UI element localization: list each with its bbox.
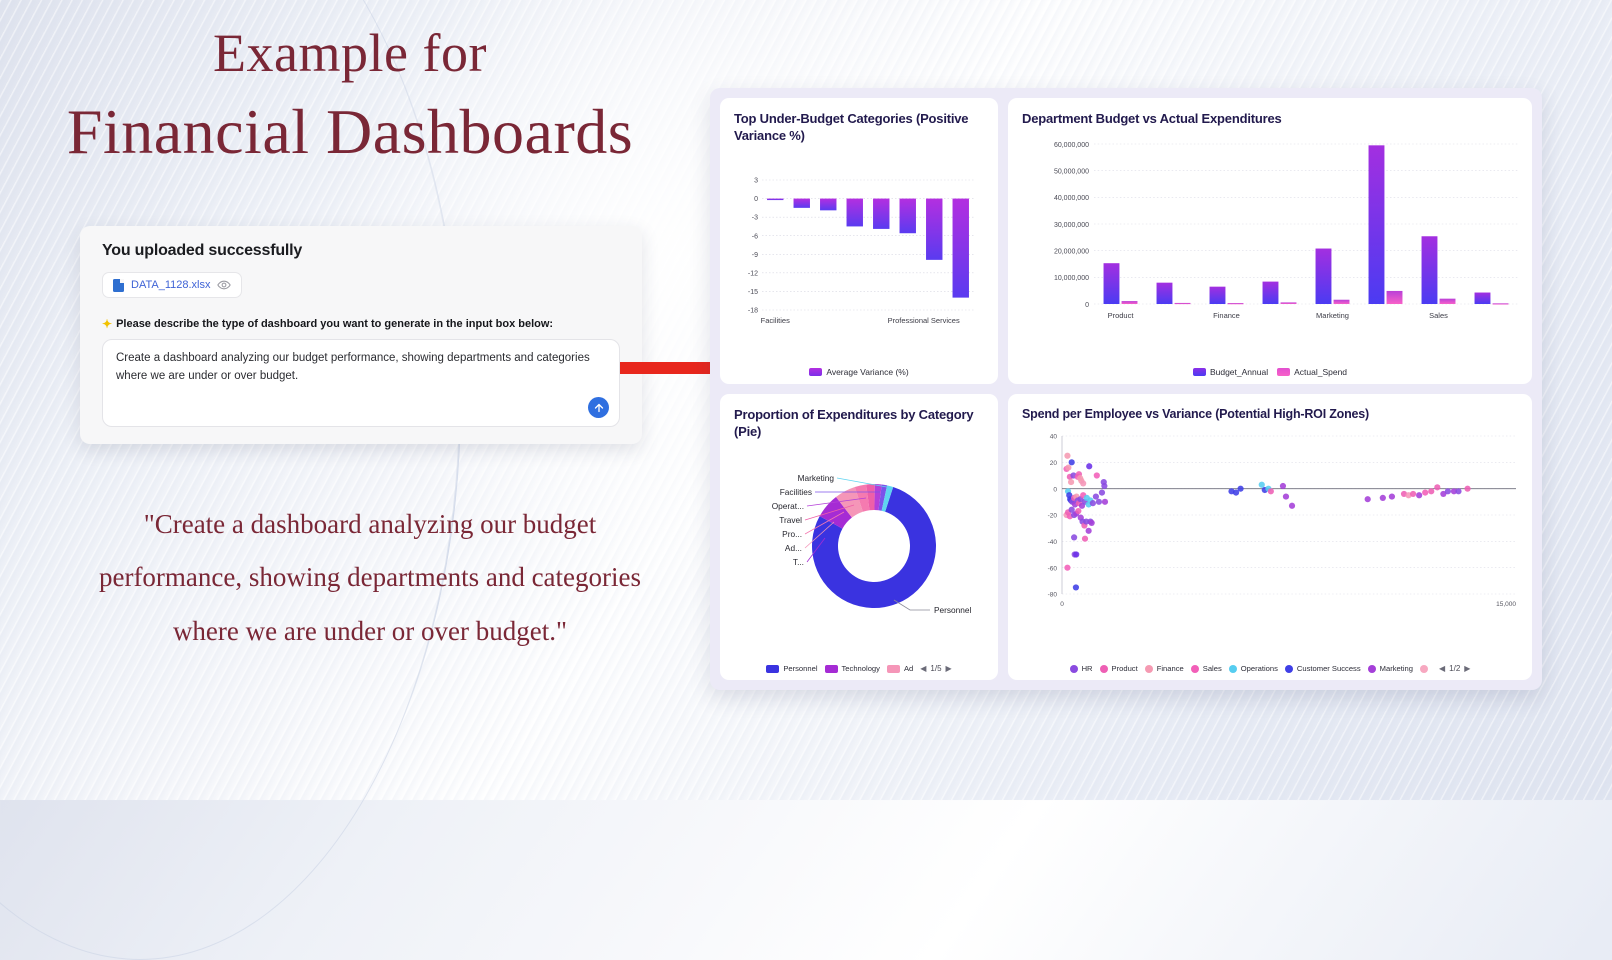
legend-dot [1420,665,1428,673]
legend-swatch [887,665,900,673]
dashboard-prompt-input[interactable]: Create a dashboard analyzing our budget … [102,339,620,427]
chevron-right-icon[interactable]: ▶ [1464,664,1470,673]
legend-label: Average Variance (%) [826,367,908,377]
legend-swatch [825,665,838,673]
legend-dot [1191,665,1199,673]
svg-text:3: 3 [754,178,758,185]
uploaded-file-chip[interactable]: DATA_1128.xlsx [102,272,242,298]
legend-item-extra-7[interactable] [1420,665,1432,673]
svg-text:50,000,000: 50,000,000 [1054,168,1089,175]
svg-text:Product: Product [1108,311,1135,320]
legend-item-customer-success[interactable]: Customer Success [1285,664,1361,673]
xls-file-icon [113,279,124,292]
chart-title-department-budget: Department Budget vs Actual Expenditures [1022,110,1518,127]
svg-text:30,000,000: 30,000,000 [1054,222,1089,229]
svg-text:40: 40 [1050,434,1058,441]
svg-text:T...: T... [793,557,804,567]
chart-card-under-budget: Top Under-Budget Categories (Positive Va… [720,98,998,384]
sparkle-icon: ✦ [102,318,112,330]
legend-item-budget-annual[interactable]: Budget_Annual [1193,367,1268,377]
svg-text:-9: -9 [752,252,758,259]
svg-text:Personnel: Personnel [934,605,972,615]
dashboard-panel: Top Under-Budget Categories (Positive Va… [710,88,1542,690]
legend-under-budget[interactable]: Average Variance (%) [720,367,998,377]
svg-text:20: 20 [1050,460,1058,467]
legend-item-technology[interactable]: Technology [825,664,880,673]
legend-item-actual-spend[interactable]: Actual_Spend [1277,367,1347,377]
svg-text:Operat...: Operat... [772,501,804,511]
legend-swatch [809,368,822,376]
legend-label: Actual_Spend [1294,367,1347,377]
legend-label: Budget_Annual [1210,367,1268,377]
svg-text:Travel: Travel [779,515,802,525]
legend-swatch [1277,368,1290,376]
svg-text:-3: -3 [752,215,758,222]
svg-text:-18: -18 [748,308,758,315]
legend-item-ad[interactable]: Ad [887,664,913,673]
chart-spend-vs-variance[interactable]: 40200-20-40-60-80015,000 [1016,426,1526,626]
chart-title-under-budget: Top Under-Budget Categories (Positive Va… [734,110,984,144]
svg-text:Marketing: Marketing [1316,311,1349,320]
legend-item-finance[interactable]: Finance [1145,664,1184,673]
chart-expenditure-pie[interactable]: MarketingFacilitiesOperat...TravelPro...… [724,448,974,643]
legend-page-indicator: 1/5 [930,664,941,673]
legend-item-product[interactable]: Product [1100,664,1138,673]
svg-text:0: 0 [1053,486,1057,493]
legend-label: Finance [1157,664,1184,673]
svg-text:-20: -20 [1048,513,1058,520]
legend-department-budget[interactable]: Budget_Annual Actual_Spend [1008,367,1532,377]
legend-swatch [766,665,779,673]
svg-text:Sales: Sales [1429,311,1448,320]
svg-text:Pro...: Pro... [782,529,802,539]
legend-spend-vs-variance[interactable]: HRProductFinanceSalesOperationsCustomer … [1008,664,1532,673]
svg-text:20,000,000: 20,000,000 [1054,248,1089,255]
legend-pager-pie[interactable]: ◀ 1/5 ▶ [920,664,951,673]
svg-text:Facilities: Facilities [761,316,790,325]
svg-text:-6: -6 [752,233,758,240]
dashboard-prompt-value: Create a dashboard analyzing our budget … [116,350,606,386]
legend-item-personnel[interactable]: Personnel [766,664,817,673]
legend-expenditure-pie[interactable]: Personnel Technology Ad ◀ 1/5 ▶ [720,664,998,673]
legend-label: Personnel [783,664,817,673]
svg-text:Professional Services: Professional Services [888,316,960,325]
svg-text:-60: -60 [1048,565,1058,572]
chart-card-department-budget: Department Budget vs Actual Expenditures… [1008,98,1532,384]
legend-label: Operations [1241,664,1278,673]
upload-card: You uploaded successfully DATA_1128.xlsx… [80,226,642,444]
legend-item-sales[interactable]: Sales [1191,664,1222,673]
svg-text:60,000,000: 60,000,000 [1054,142,1089,149]
legend-label: Technology [842,664,880,673]
legend-label: Ad [904,664,913,673]
legend-label: HR [1082,664,1093,673]
svg-text:-80: -80 [1048,592,1058,599]
svg-text:Finance: Finance [1213,311,1240,320]
legend-page-indicator: 1/2 [1449,664,1460,673]
chart-card-expenditure-pie: Proportion of Expenditures by Category (… [720,394,998,680]
svg-text:-15: -15 [748,289,758,296]
legend-dot [1229,665,1237,673]
chart-title-expenditure-pie: Proportion of Expenditures by Category (… [734,406,984,440]
svg-text:-40: -40 [1048,539,1058,546]
legend-label: Customer Success [1297,664,1361,673]
chart-department-budget[interactable]: 010,000,00020,000,00030,000,00040,000,00… [1016,134,1526,344]
chart-under-budget[interactable]: 30-3-6-9-12-15-18 FacilitiesProfessional… [728,172,978,337]
legend-dot [1368,665,1376,673]
legend-dot [1285,665,1293,673]
svg-text:-12: -12 [748,270,758,277]
legend-item-hr[interactable]: HR [1070,664,1093,673]
svg-text:Marketing: Marketing [798,473,835,483]
svg-text:Facilities: Facilities [780,487,812,497]
svg-text:Ad...: Ad... [785,543,802,553]
svg-text:0: 0 [754,196,758,203]
chart-card-spend-vs-variance: Spend per Employee vs Variance (Potentia… [1008,394,1532,680]
legend-label: Sales [1203,664,1222,673]
send-button[interactable] [588,397,609,418]
chevron-right-icon[interactable]: ▶ [946,664,952,673]
svg-text:40,000,000: 40,000,000 [1054,195,1089,202]
legend-label: Product [1112,664,1138,673]
svg-text:15,000: 15,000 [1496,601,1516,608]
chevron-left-icon[interactable]: ◀ [1439,664,1445,673]
svg-text:0: 0 [1085,302,1089,309]
svg-text:10,000,000: 10,000,000 [1054,275,1089,282]
legend-pager-scatter[interactable]: ◀1/2▶ [1439,664,1470,673]
prompt-instruction-label: Please describe the type of dashboard yo… [116,318,553,330]
legend-swatch [1193,368,1206,376]
title-line-1: Example for [0,22,700,84]
upload-success-heading: You uploaded successfully [102,242,620,260]
legend-label: Marketing [1380,664,1413,673]
legend-item-average-variance[interactable]: Average Variance (%) [809,367,908,377]
legend-item-operations[interactable]: Operations [1229,664,1278,673]
uploaded-file-name: DATA_1128.xlsx [131,279,210,291]
title-line-2: Financial Dashboards [0,94,700,171]
chevron-left-icon[interactable]: ◀ [920,664,926,673]
legend-item-marketing[interactable]: Marketing [1368,664,1413,673]
chart-title-spend-vs-variance: Spend per Employee vs Variance (Potentia… [1022,406,1518,423]
legend-dot [1145,665,1153,673]
prompt-instruction: ✦ Please describe the type of dashboard … [102,318,620,330]
svg-text:0: 0 [1060,601,1064,608]
legend-dot [1100,665,1108,673]
slide-title: Example for Financial Dashboards [0,22,700,171]
legend-dot [1070,665,1078,673]
prompt-quote: "Create a dashboard analyzing our budget… [70,498,670,658]
eye-icon[interactable] [217,278,231,292]
